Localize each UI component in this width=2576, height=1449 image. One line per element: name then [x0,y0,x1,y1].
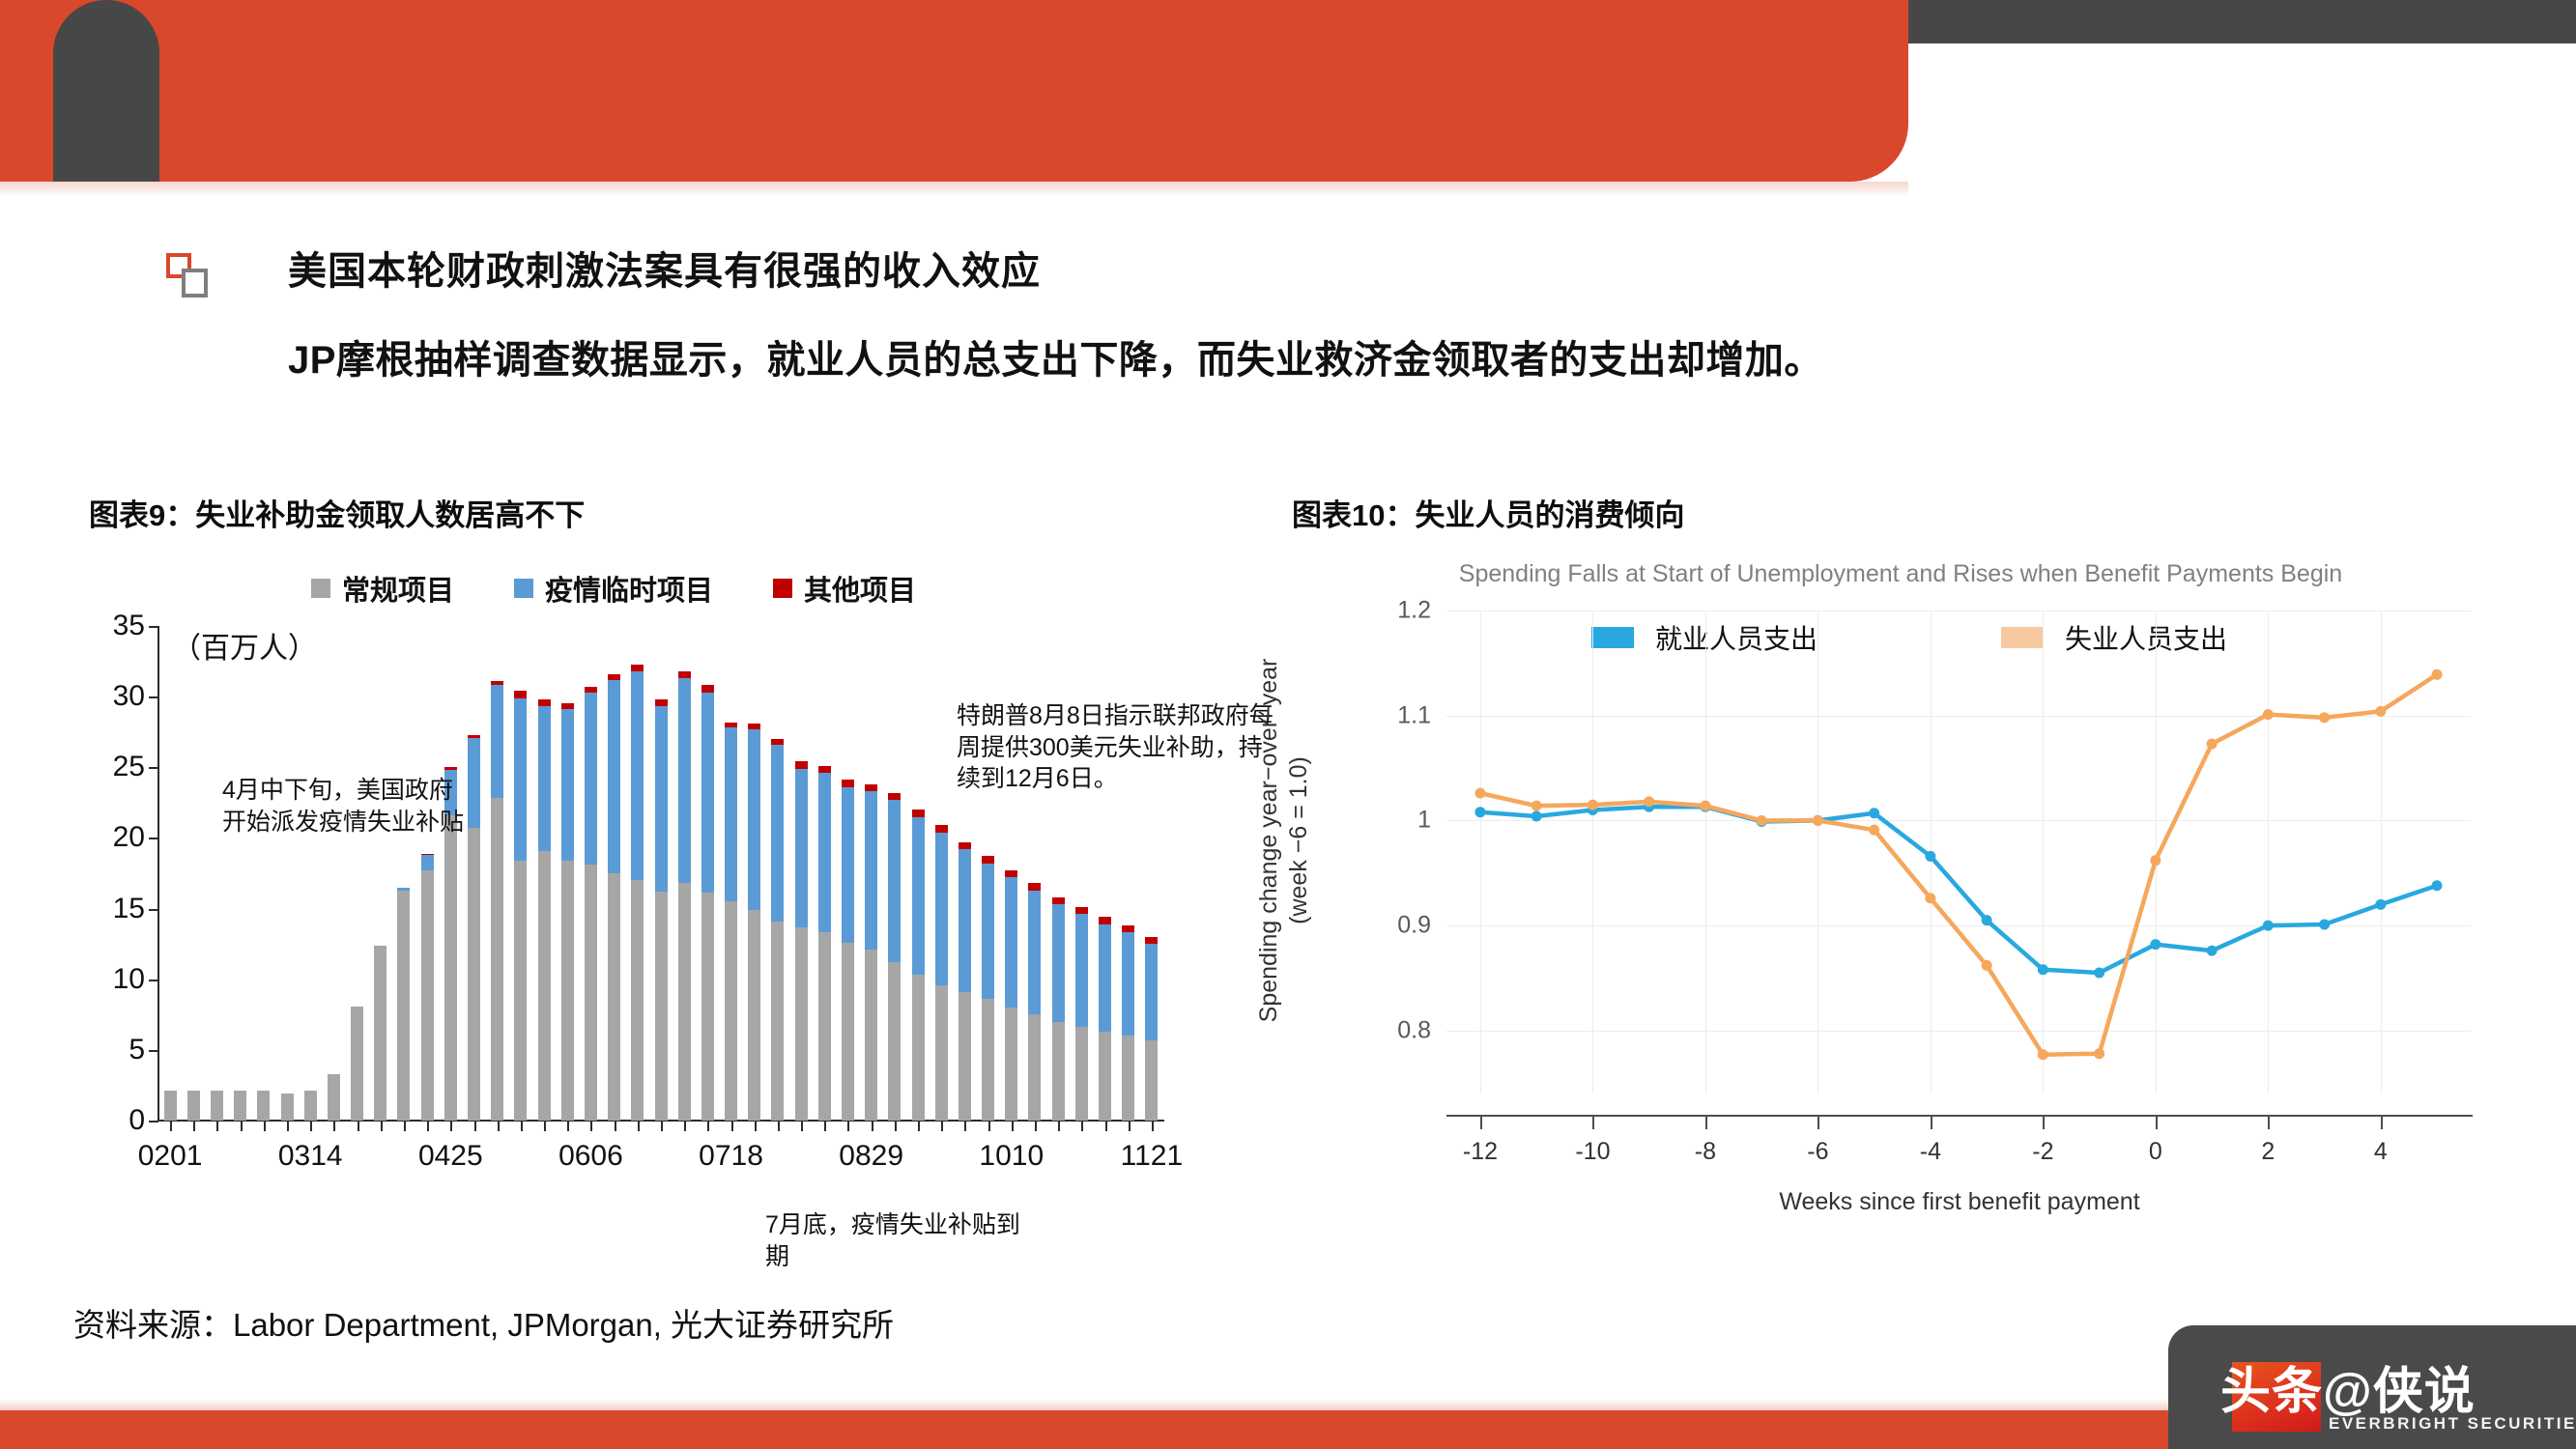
chart9-x-tick-label: 0201 [138,1140,203,1173]
chart9-annotation-2: 特朗普8月8日指示联邦政府每周提供300美元失业补助，持续到12月6日。 [957,700,1275,795]
chart10-marker [2432,669,2443,680]
chart9-bar-segment [1122,932,1134,1036]
chart9-y-tick-label: 20 [113,821,145,854]
chart9-bar-segment [561,709,574,861]
chart10-line-1 [1480,674,2437,1054]
double-square-icon [166,253,211,298]
chart9-x-tick [964,1121,966,1131]
chart9-bar [678,671,691,1121]
chart9-bar-segment [444,815,457,1121]
chart9-x-tick [638,1121,640,1131]
chart9-legend-label-1: 疫情临时项目 [545,568,713,609]
chart10-marker [2375,706,2386,717]
chart9-x-tick [590,1121,592,1131]
chart10-y-axis-title-l2: (week −6 = 1.0) [1285,756,1312,924]
chart9-bar [1122,925,1134,1121]
chart9-legend-item-1: 疫情临时项目 [514,568,713,609]
chart9-bar-segment [1028,891,1041,1015]
chart10-y-tick-label: 1 [1417,807,1431,835]
chart9-bar-segment [818,932,831,1121]
chart9-bar [748,724,760,1121]
chart9-bar-segment [725,901,737,1121]
chart9-bar-segment [795,927,808,1121]
chart9-bar-segment [655,706,668,892]
chart9-y-tick [149,626,158,628]
chart9-x-tick [264,1121,266,1131]
chart9-bar [888,793,901,1121]
chart10-x-tick-label: -4 [1920,1138,1941,1166]
chart10-marker [2263,921,2274,931]
chart9-y-tick [149,838,158,839]
chart9-bar-segment [1075,1027,1088,1121]
chart9-bar [1005,870,1017,1121]
chart9-bar [1099,917,1111,1121]
chart9-bar [935,825,948,1121]
chart9-x-tick [988,1121,990,1131]
chart9-x-tick [1152,1121,1154,1131]
chart9-x-tick [287,1121,289,1131]
chart9-x-tick [521,1121,523,1131]
chart10-marker [1700,801,1710,811]
chart9-bar-segment [959,842,971,849]
chart10-marker [2207,739,2218,750]
chart9-bar-segment [608,873,620,1121]
chart9-bar [257,1091,270,1121]
chart9-bar [725,723,737,1122]
chart9-bar-segment [1122,925,1134,932]
chart9-bar-segment [1145,937,1158,944]
chart9-bar-segment [1028,1014,1041,1121]
chart9-bar-segment [865,791,877,950]
chart10-marker [1757,815,1767,826]
chart10-marker [2038,1049,2048,1060]
chart9-legend-swatch-2 [773,579,792,598]
chart9-bar-segment [1075,907,1088,914]
chart9-bar [701,685,714,1121]
chart9-legend-label-0: 常规项目 [342,568,454,609]
chart10-y-tick-label: 0.9 [1397,912,1431,940]
chart10-x-tick-label: 4 [2374,1138,2388,1166]
chart10-y-axis-title: Spending change year−over−year (week −6 … [1254,659,1315,1023]
chart9-bar-segment [281,1094,294,1121]
chart10-marker [2263,709,2274,720]
chart9-bar-segment [1145,1040,1158,1121]
chart9-bar [959,842,971,1121]
chart10-x-axis [1446,1115,2473,1117]
square-gray-icon [182,269,208,298]
chart9-bar-segment [561,861,574,1121]
chart10-x-tick [2043,1117,2045,1129]
chart9-bar-segment [1099,1032,1111,1121]
chart9-x-tick-label: 0314 [278,1140,343,1173]
chart10-marker [1474,807,1485,817]
chart10-x-tick-label: -12 [1463,1138,1498,1166]
chart10-marker [1588,800,1598,810]
chart10-marker [1925,851,1935,862]
chart9-y-tick [149,696,158,698]
chart9-y-tick-label: 30 [113,680,145,713]
chart9-x-tick [1012,1121,1014,1131]
chart9-bar-segment [748,729,760,910]
chart9-bar [328,1074,340,1121]
chart9-x-tick [567,1121,569,1131]
chart9-bar-segment [935,985,948,1121]
chart9-bar-segment [608,680,620,873]
chart9-x-tick [498,1121,500,1131]
source-note: 资料来源：Labor Department, JPMorgan, 光大证券研究所 [73,1299,894,1346]
chart10-marker [1925,893,1935,903]
chart10-y-tick-label: 1.2 [1397,597,1431,625]
chart10-marker [2375,899,2386,910]
chart10-x-tick-label: 2 [2261,1138,2275,1166]
chart9-y-tick [149,909,158,911]
chart10-marker [2150,939,2161,950]
chart9-bar-segment [1005,1008,1017,1121]
chart10-x-tick [1818,1117,1819,1129]
chart9-bar [374,946,386,1121]
chart9-bar-segment [912,975,925,1121]
chart9-legend-item-0: 常规项目 [311,568,454,609]
chart9-bar-segment [1028,883,1041,890]
chart9-bar-segment [748,910,760,1121]
chart10-marker [1982,915,1992,925]
chart10-x-tick [1592,1117,1594,1129]
chart10-x-axis-title: Weeks since first benefit payment [1446,1188,2473,1216]
chart9-x-tick [404,1121,406,1131]
chart9-bar-segment [888,800,901,962]
chart9-bar [1052,897,1065,1121]
page-subtitle: JP摩根抽样调查数据显示，就业人员的总支出下降，而失业救济金领取者的支出却增加。 [288,328,1823,384]
chart9-bar-segment [304,1091,317,1121]
chart10-marker [1531,801,1542,811]
chart10-marker [2207,946,2218,956]
chart9-x-tick [170,1121,172,1131]
chart9-bar-segment [655,892,668,1121]
chart9-y-tick [149,1121,158,1122]
chart9-bar-segment [351,1007,363,1121]
chart9-bar [538,699,551,1121]
chart9-x-tick [333,1121,335,1131]
chart9-bar-segment [468,828,480,1121]
chart9-bar-segment [701,893,714,1121]
chart9-bar-segment [421,855,434,870]
chart9-bar-segment [1099,917,1111,923]
chart9-bar-segment [631,880,644,1121]
watermark-brand: 头条@侠说 [2220,1350,2568,1423]
chart10-marker [1644,796,1654,807]
chart9-legend-item-2: 其他项目 [773,568,916,609]
chart9-bar-segment [959,849,971,992]
chart9-bar-segment [655,699,668,706]
chart9-bar-chart: 常规项目疫情临时项目其他项目 （百万人） 0510152025303502010… [89,551,1229,1265]
chart9-x-tick [872,1121,873,1131]
chart9-x-tick [1058,1121,1060,1131]
chart10-marker [1869,808,1879,818]
chart9-x-tick [941,1121,943,1131]
chart10-x-tick [1705,1117,1707,1129]
chart9-x-tick [381,1121,383,1131]
chart9-y-tick [149,767,158,769]
chart9-x-tick [707,1121,709,1131]
chart9-x-tick [1105,1121,1107,1131]
chart9-bar-segment [818,773,831,932]
chart10-marker [1869,825,1879,836]
chart9-bar [351,1007,363,1121]
chart10-x-tick [1480,1117,1482,1129]
chart9-bar [818,766,831,1121]
chart9-bar-segment [1075,914,1088,1027]
chart9-bar [1075,907,1088,1121]
chart9-bar-segment [842,943,854,1121]
chart9-x-tick [216,1121,218,1131]
chart10-x-tick [2381,1117,2383,1129]
chart9-bar-segment [1052,1022,1065,1121]
chart9-bar-segment [912,810,925,816]
chart9-x-tick [1129,1121,1131,1131]
chart9-bar [631,665,644,1121]
chart9-x-tick [661,1121,663,1131]
chart9-x-tick [801,1121,803,1131]
chart9-bar [608,674,620,1121]
chart9-bar-segment [982,864,994,999]
chart10-marker [1982,960,1992,971]
chart9-bar [561,703,574,1121]
chart10-marker [2094,1048,2104,1059]
chart9-bar [912,810,925,1121]
chart9-x-tick [1035,1121,1037,1131]
chart9-bar-segment [514,691,527,697]
chart9-bar-segment [959,992,971,1121]
chart9-x-tick [615,1121,616,1131]
chart9-x-tick [847,1121,849,1131]
chart9-bar [211,1091,223,1121]
chart9-bar-segment [982,856,994,863]
chart10-marker [1813,815,1823,826]
chart9-title: 图表9：失业补助金领取人数居高不下 [89,491,585,534]
chart9-bar [514,691,527,1121]
chart10-marker [2150,855,2161,866]
chart9-x-tick-label: 0829 [839,1140,903,1173]
chart10-x-tick [2156,1117,2158,1129]
chart10-x-tick-label: -10 [1575,1138,1610,1166]
chart9-bar-segment [842,780,854,786]
chart9-bar-segment [1122,1036,1134,1121]
chart9-bar [164,1091,177,1121]
chart10-marker [2319,920,2330,930]
chart9-x-tick [918,1121,920,1131]
chart9-bar-segment [211,1091,223,1121]
chart9-bar [187,1091,200,1121]
chart9-bar-segment [585,865,597,1121]
chart9-x-tick [193,1121,195,1131]
top-orange-banner [0,0,1908,182]
chart9-bar-segment [187,1091,200,1121]
chart9-bar-segment [491,798,503,1121]
chart9-bar-segment [982,999,994,1121]
chart9-x-tick [824,1121,826,1131]
chart9-bar-segment [678,883,691,1121]
chart10-y-tick-label: 0.8 [1397,1016,1431,1044]
chart9-x-tick [310,1121,312,1131]
chart9-bar-segment [164,1091,177,1121]
chart9-x-tick-label: 0718 [699,1140,763,1173]
chart9-bar-segment [935,825,948,832]
chart9-bar-segment [538,699,551,706]
watermark: 头条@侠说 EVERBRIGHT SECURITIES [2168,1325,2576,1449]
chart9-x-tick-label: 0606 [558,1140,623,1173]
chart10-marker [2038,964,2048,975]
chart9-bar-segment [538,706,551,850]
chart9-bar-segment [678,671,691,678]
chart9-bar-segment [678,678,691,883]
chart9-x-tick [755,1121,757,1131]
chart9-bar-segment [771,922,784,1121]
chart9-bar-segment [538,851,551,1121]
chart9-bar [491,681,503,1121]
chart10-x-tick-label: -6 [1807,1138,1828,1166]
chart10-marker [2319,712,2330,723]
chart9-bar [771,739,784,1121]
chart9-legend-swatch-0 [311,579,330,598]
chart10-x-tick [2268,1117,2270,1129]
chart9-x-tick [895,1121,897,1131]
chart9-bar-segment [585,693,597,865]
chart10-y-tick-label: 1.1 [1397,701,1431,729]
chart9-bar [304,1091,317,1121]
chart9-bar-segment [725,727,737,901]
chart10-marker [1474,788,1485,799]
chart9-x-tick-label: 0425 [418,1140,483,1173]
chart9-annotation-3: 7月底，疫情失业补贴到期 [765,1209,1036,1272]
chart9-bar-segment [397,891,410,1121]
chart9-x-tick [358,1121,359,1131]
chart10-x-tick-label: -8 [1695,1138,1716,1166]
chart9-bar-segment [421,870,434,1121]
chart9-y-tick-label: 25 [113,751,145,783]
chart9-bar-segment [1099,924,1111,1032]
arch-decoration [53,0,159,182]
chart10-x-tick-label: -2 [2032,1138,2053,1166]
chart9-bar [982,856,994,1121]
chart9-y-tick-label: 0 [129,1104,145,1137]
chart10-marker [2432,880,2443,891]
chart10-marker [2094,968,2104,979]
chart10-line-0 [1480,807,2437,973]
chart9-bar [865,784,877,1121]
chart9-annotation-1: 4月中下旬，美国政府开始派发疫情失业补贴 [222,775,473,838]
chart9-legend-label-2: 其他项目 [804,568,916,609]
chart9-bar [234,1091,246,1121]
chart10-plot-area: 0.80.911.11.2 [1446,611,2471,1094]
chart10-line-chart: Spending Falls at Start of Unemployment … [1292,551,2509,1265]
chart9-bar-segment [935,833,948,985]
chart10-y-axis-title-l1: Spending change year−over−year [1255,659,1282,1023]
chart9-x-tick [731,1121,733,1131]
chart9-bar [1145,937,1158,1121]
chart10-marker [1531,811,1542,822]
chart9-bar-segment [888,793,901,800]
chart9-bar-segment [701,693,714,894]
chart9-bar-segment [257,1091,270,1121]
chart9-x-tick-label: 1010 [979,1140,1044,1173]
chart9-bar-segment [842,787,854,943]
chart9-x-tick [450,1121,452,1131]
chart9-bar [397,888,410,1121]
chart9-y-tick [149,980,158,981]
chart9-bar-segment [631,671,644,881]
chart10-x-tick [1931,1117,1932,1129]
chart9-x-tick [427,1121,429,1131]
chart9-x-tick [684,1121,686,1131]
chart9-x-tick [544,1121,546,1131]
chart9-bar-segment [795,769,808,927]
chart9-bar [795,761,808,1121]
chart9-bar-segment [771,745,784,922]
chart9-x-tick [241,1121,243,1131]
chart9-y-tick-label: 15 [113,893,145,925]
banner-shadow [0,182,1908,197]
chart9-legend-swatch-1 [514,579,533,598]
chart9-bar-segment [865,784,877,791]
chart9-bar-segment [818,766,831,773]
chart10-subtitle: Spending Falls at Start of Unemployment … [1292,560,2509,588]
chart9-bar [421,854,434,1121]
chart9-y-tick [149,1050,158,1052]
chart9-bar-segment [374,946,386,1121]
chart9-bar-segment [865,950,877,1121]
chart9-x-tick [1081,1121,1083,1131]
chart9-bar-segment [328,1074,340,1121]
chart9-x-tick [474,1121,476,1131]
chart9-y-tick-label: 5 [129,1034,145,1066]
chart9-y-tick-label: 10 [113,963,145,996]
chart9-bar-segment [234,1091,246,1121]
chart9-bar-segment [1052,897,1065,904]
chart9-x-tick-label: 1121 [1121,1140,1184,1173]
chart9-y-tick-label: 35 [113,610,145,642]
chart9-bar-segment [514,861,527,1121]
chart10-x-tick-label: 0 [2149,1138,2162,1166]
watermark-subtitle: EVERBRIGHT SECURITIES [2329,1414,2576,1434]
chart9-bar-segment [1145,944,1158,1039]
page-title: 美国本轮财政刺激法案具有很强的收入效应 [288,240,1041,296]
chart10-title: 图表10：失业人员的消费倾向 [1292,491,1684,534]
chart9-bar-segment [491,685,503,798]
chart9-bar-segment [1005,877,1017,1008]
chart9-bar [281,1094,294,1121]
chart9-bar-segment [1005,870,1017,877]
chart9-bar-segment [514,698,527,861]
chart9-bar-segment [631,665,644,671]
chart9-bar [842,780,854,1121]
chart9-bar-segment [795,761,808,768]
chart9-bar [585,687,597,1121]
chart9-bar-segment [1052,904,1065,1021]
slide-root: 美国本轮财政刺激法案具有很强的收入效应 JP摩根抽样调查数据显示，就业人员的总支… [0,0,2576,1449]
chart9-bar-segment [912,817,925,976]
chart10-series-svg [1446,611,2471,1094]
chart9-x-tick [778,1121,780,1131]
chart9-legend: 常规项目疫情临时项目其他项目 [311,568,916,609]
chart9-bar-segment [888,962,901,1121]
chart9-bar [1028,883,1041,1121]
chart9-bar-segment [701,685,714,692]
chart9-bar [655,699,668,1121]
